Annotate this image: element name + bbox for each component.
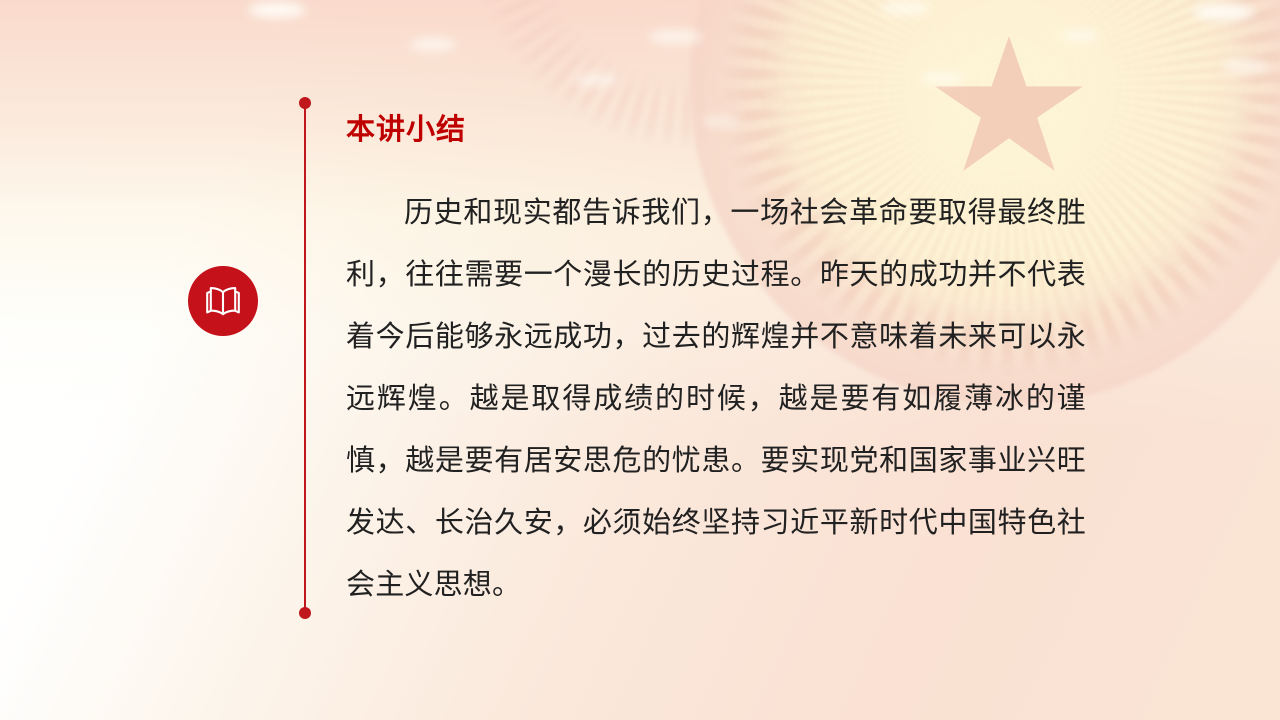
book-badge	[188, 266, 258, 336]
summary-paragraph: 历史和现实都告诉我们，一场社会革命要取得最终胜利，往往需要一个漫长的历史过程。昨…	[346, 182, 1086, 616]
timeline-dot-bottom-icon	[299, 607, 311, 619]
slide-canvas: 本讲小结 历史和现实都告诉我们，一场社会革命要取得最终胜利，往往需要一个漫长的历…	[0, 0, 1280, 720]
timeline-rule	[304, 103, 306, 614]
page-title: 本讲小结	[346, 113, 466, 148]
cog-ring-secondary-icon	[430, 0, 950, 190]
open-book-icon	[204, 285, 242, 317]
timeline-dot-top-icon	[299, 97, 311, 109]
five-point-star-icon	[935, 36, 1083, 178]
